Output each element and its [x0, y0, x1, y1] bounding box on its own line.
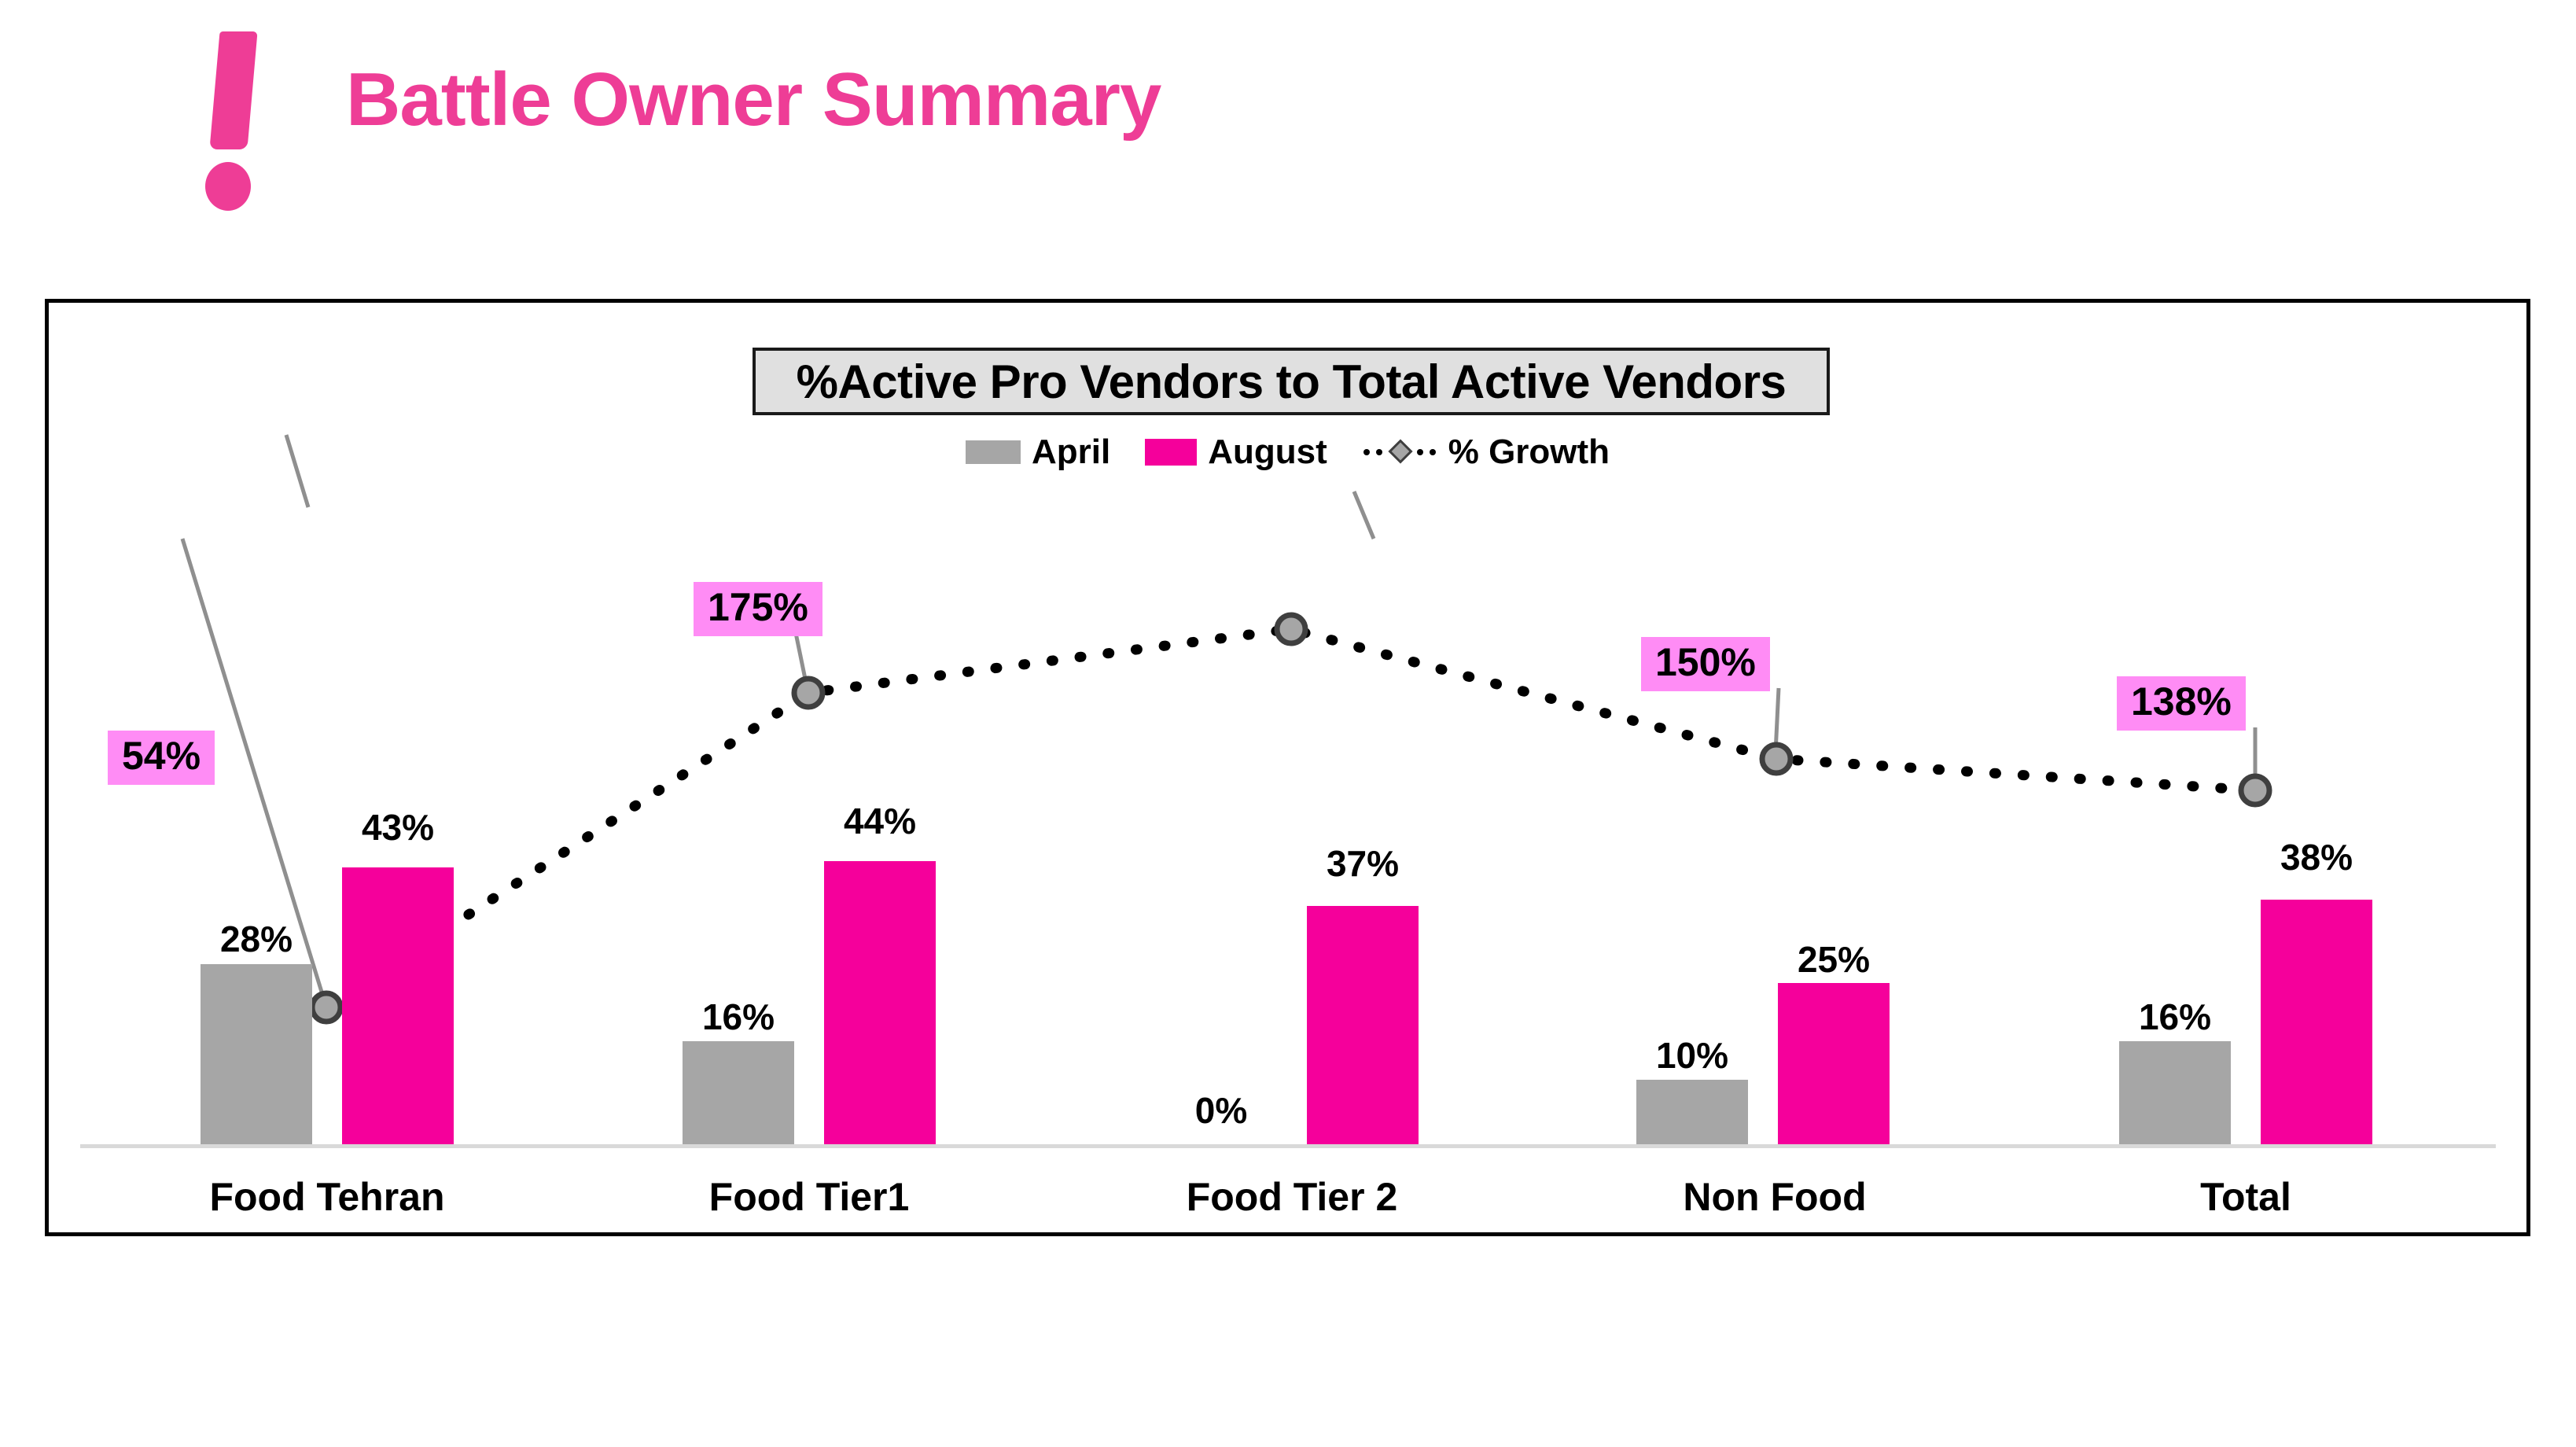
bar-value-august-food-tier1: 44%: [824, 800, 936, 842]
exclamation-logo-icon: [201, 31, 295, 204]
page-title: Battle Owner Summary: [346, 57, 1161, 143]
bar-value-august-total: 38%: [2261, 836, 2372, 878]
category-label-total: Total: [2081, 1174, 2411, 1220]
bar-april-food-tier1[interactable]: [683, 1041, 794, 1144]
legend-item-august[interactable]: August: [1145, 433, 1327, 472]
legend-item-april[interactable]: April: [966, 433, 1110, 472]
chart-container: %Active Pro Vendors to Total Active Vend…: [45, 299, 2530, 1236]
legend-label-april: April: [1032, 433, 1110, 472]
category-label-food-tier1: Food Tier1: [644, 1174, 974, 1220]
chart-title: %Active Pro Vendors to Total Active Vend…: [797, 355, 1787, 409]
category-label-non-food: Non Food: [1610, 1174, 1940, 1220]
category-label-food-tier-2: Food Tier 2: [1127, 1174, 1457, 1220]
legend-label-august: August: [1208, 433, 1327, 472]
legend-dotted-line-icon: [1362, 442, 1437, 462]
bar-value-april-total: 16%: [2119, 996, 2231, 1038]
growth-label-non-food: 150%: [1641, 637, 1770, 691]
legend-swatch-april-icon: [966, 440, 1021, 464]
bar-august-food-tier-2[interactable]: [1307, 906, 1419, 1144]
bar-value-august-food-tier-2: 37%: [1307, 842, 1419, 885]
legend-swatch-august-icon: [1145, 439, 1197, 466]
logo-bar-shape: [209, 31, 257, 149]
bar-value-april-food-tehran: 28%: [201, 918, 312, 960]
bar-august-total[interactable]: [2261, 900, 2372, 1144]
bar-value-april-food-tier-2: 0%: [1165, 1089, 1277, 1132]
category-label-food-tehran: Food Tehran: [162, 1174, 492, 1220]
chart-title-box: %Active Pro Vendors to Total Active Vend…: [753, 348, 1830, 415]
growth-label-food-tehran: 54%: [108, 731, 215, 785]
x-axis-line: [80, 1144, 2496, 1148]
bar-april-non-food[interactable]: [1636, 1080, 1748, 1144]
bar-august-food-tehran[interactable]: [342, 867, 454, 1144]
bar-august-non-food[interactable]: [1778, 983, 1890, 1144]
growth-label-food-tier1: 175%: [694, 582, 822, 636]
legend-label-growth: % Growth: [1448, 433, 1610, 472]
chart-legend: April August % Growth: [49, 433, 2526, 472]
legend-item-growth[interactable]: % Growth: [1362, 433, 1610, 472]
bar-value-august-non-food: 25%: [1778, 938, 1890, 981]
growth-label-total: 138%: [2117, 676, 2246, 731]
slide-header: Battle Owner Summary: [0, 0, 2576, 236]
bar-april-total[interactable]: [2119, 1041, 2231, 1144]
logo-dot-shape: [205, 162, 251, 211]
bar-april-food-tehran[interactable]: [201, 964, 312, 1144]
bar-value-april-non-food: 10%: [1636, 1034, 1748, 1077]
bar-value-april-food-tier1: 16%: [683, 996, 794, 1038]
bar-august-food-tier1[interactable]: [824, 861, 936, 1144]
bar-value-august-food-tehran: 43%: [342, 806, 454, 849]
